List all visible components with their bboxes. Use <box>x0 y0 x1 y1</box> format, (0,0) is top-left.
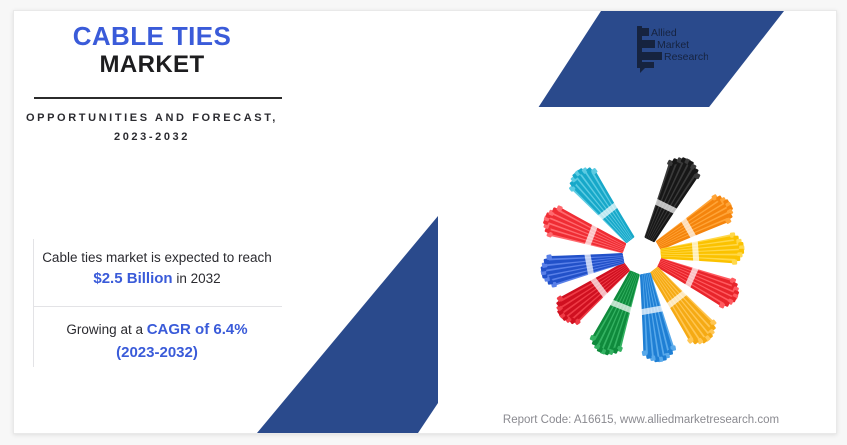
stat2-value: CAGR of 6.4% <box>147 321 248 338</box>
title-line-secondary: MARKET <box>21 51 283 79</box>
stat2-period: (2023-2032) <box>116 342 198 365</box>
title-divider <box>34 97 282 99</box>
footer-report-code: Report Code: A16615, www.alliedmarketres… <box>450 414 832 426</box>
stat1-suffix: in 2032 <box>173 271 221 286</box>
subtitle-years: 2023-2032 <box>21 128 283 147</box>
title-line-primary: CABLE TIES <box>21 22 283 51</box>
subtitle-text: OPPORTUNITIES AND FORECAST, <box>21 109 283 128</box>
infographic-root: Allied Market Research CABLE TIES MARKET… <box>0 0 847 445</box>
cable-ties-photo <box>446 107 836 407</box>
report-card: Allied Market Research CABLE TIES MARKET… <box>13 10 837 434</box>
stat1-value: $2.5 Billion <box>93 270 172 287</box>
logo-line-2: Market <box>657 39 689 51</box>
subtitle-block: OPPORTUNITIES AND FORECAST, 2023-2032 <box>21 109 283 148</box>
logo-line-1: Allied <box>651 27 677 39</box>
stat-market-value: Cable ties market is expected to reach $… <box>26 248 288 291</box>
page-title: CABLE TIES MARKET <box>21 22 283 79</box>
stat-cagr: Growing at a CAGR of 6.4% (2023-2032) <box>26 319 288 364</box>
allied-market-research-logo-icon: Allied Market Research <box>633 23 708 73</box>
logo-line-3: Research <box>664 51 708 63</box>
stats-divider <box>34 306 282 307</box>
stat1-prefix: Cable ties market is expected to reach <box>42 250 272 265</box>
stat2-prefix: Growing at a <box>66 322 146 337</box>
